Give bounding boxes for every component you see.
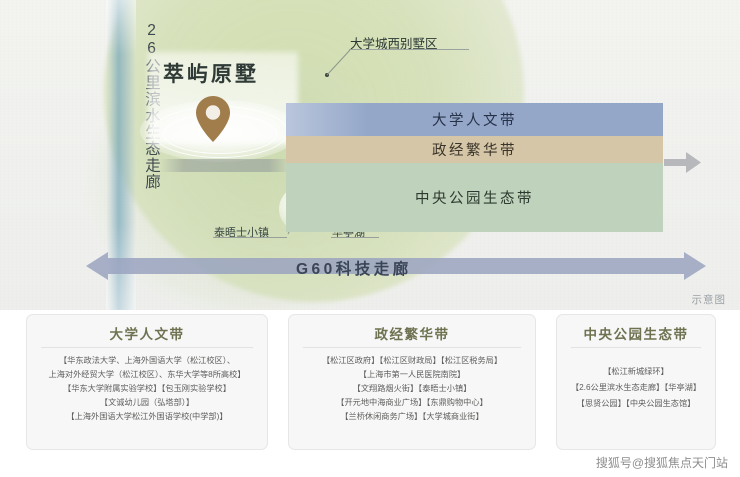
card-line: 【松江新城绿环】 bbox=[563, 364, 709, 380]
card-body: 【松江区政府】【松江区财政局】【松江区税务局】 【上海市第一人民医院南院】 【文… bbox=[295, 354, 529, 425]
annotation-lake-underline bbox=[331, 237, 379, 238]
belt-political-economy: 政经繁华带 bbox=[286, 136, 663, 163]
card-line: 【上海外国语大学松江外国语学校(中学部)】 bbox=[33, 410, 261, 424]
card-line: 【文诚幼儿园（弘塔部）】 bbox=[33, 396, 261, 410]
card-line: 【上海市第一人民医院南院】 bbox=[295, 368, 529, 382]
card-line: 【华东大学附属实验学校】【包玉刚实验学校】 bbox=[33, 382, 261, 396]
card-line: 【2.6公里滨水生态走廊】【华亭湖】 bbox=[563, 380, 709, 396]
belt-central-park-ecology: 中央公园生态带 bbox=[286, 163, 663, 232]
card-title: 大学人文带 bbox=[33, 323, 261, 343]
disclaimer-label: 示意图 bbox=[692, 292, 727, 307]
card-title: 政经繁华带 bbox=[295, 323, 529, 343]
card-line: 【松江区政府】【松江区财政局】【松江区税务局】 bbox=[295, 354, 529, 368]
road-bar bbox=[160, 159, 288, 172]
card-line: 上海对外经贸大学（松江校区）、东华大学等8所高校】 bbox=[33, 368, 261, 382]
belt-blue-highlight bbox=[286, 103, 663, 136]
card-line: 【开元地中海商业广场】【东鼎购物中心】 bbox=[295, 396, 529, 410]
legend-cards: 大学人文带 【华东政法大学、上海外国语大学（松江校区）、 上海对外经贸大学（松江… bbox=[0, 310, 740, 477]
card-political-economy: 政经繁华带 【松江区政府】【松江区财政局】【松江区税务局】 【上海市第一人民医院… bbox=[288, 314, 536, 450]
card-line: 【兰桥休闲商务广场】【大学城商业街】 bbox=[295, 410, 529, 424]
belt-direction-arrow-icon bbox=[664, 150, 702, 175]
card-body: 【松江新城绿环】 【2.6公里滨水生态走廊】【华亭湖】 【思贤公园】【中央公园生… bbox=[563, 364, 709, 412]
card-university-culture: 大学人文带 【华东政法大学、上海外国语大学（松江校区）、 上海对外经贸大学（松江… bbox=[26, 314, 268, 450]
g60-corridor-label: G60科技走廊 bbox=[296, 257, 412, 279]
annotation-tai-underline bbox=[213, 237, 287, 238]
map-pin-icon bbox=[196, 96, 242, 156]
annotation-villa-underline bbox=[349, 49, 469, 50]
card-divider bbox=[41, 347, 253, 348]
card-divider bbox=[571, 347, 701, 348]
card-line: 【文翔路烟火街】【泰晤士小镇】 bbox=[295, 382, 529, 396]
card-body: 【华东政法大学、上海外国语大学（松江校区）、 上海对外经贸大学（松江校区）、东华… bbox=[33, 354, 261, 425]
map-diagram: 26公里滨水生态走廊 萃屿原墅 大学城西别墅区 泰 bbox=[0, 0, 740, 310]
card-divider bbox=[303, 347, 521, 348]
card-line: 【华东政法大学、上海外国语大学（松江校区）、 bbox=[33, 354, 261, 368]
project-name-label: 萃屿原墅 bbox=[163, 58, 259, 88]
card-central-park-ecology: 中央公园生态带 【松江新城绿环】 【2.6公里滨水生态走廊】【华亭湖】 【思贤公… bbox=[556, 314, 716, 450]
watermark-text: 搜狐号@搜狐焦点天门站 bbox=[596, 456, 728, 470]
infographic-root: 26公里滨水生态走廊 萃屿原墅 大学城西别墅区 泰 bbox=[0, 0, 740, 477]
card-line: 【思贤公园】【中央公园生态馆】 bbox=[563, 396, 709, 412]
card-title: 中央公园生态带 bbox=[563, 323, 709, 343]
watermark: 搜狐号@搜狐焦点天门站 bbox=[596, 454, 728, 471]
